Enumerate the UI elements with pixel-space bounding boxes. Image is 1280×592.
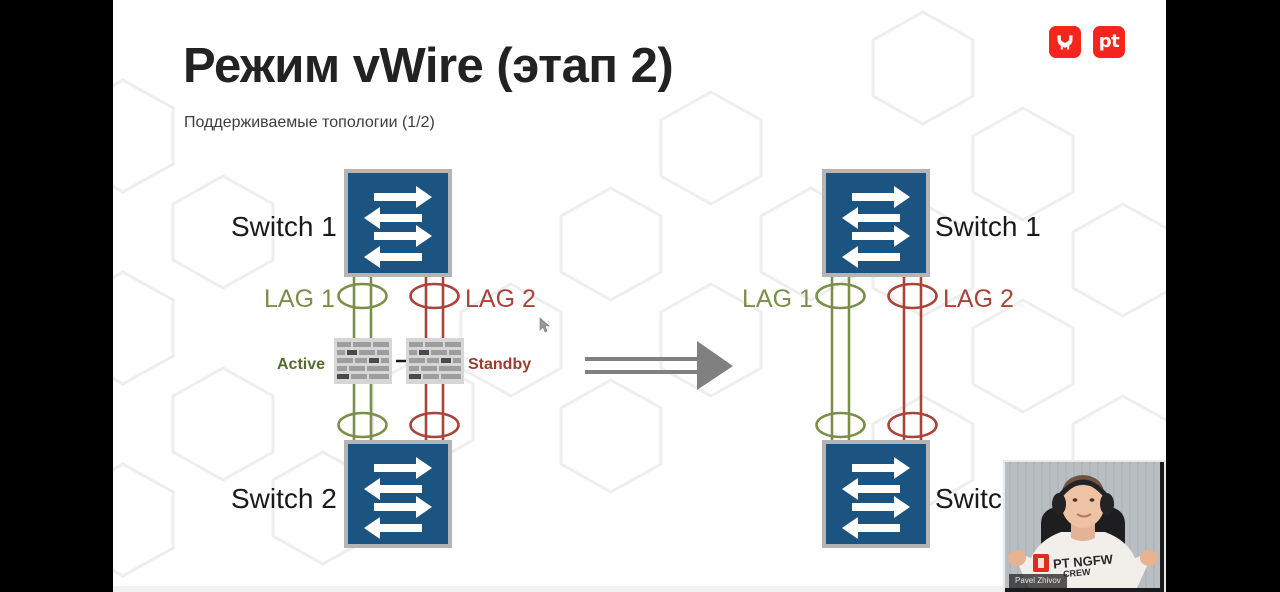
switch1-label-right: Switch 1 — [935, 211, 1041, 242]
transition-arrow-right — [585, 341, 733, 390]
firewall-standby-icon — [406, 338, 464, 384]
lag1-links-right — [817, 271, 865, 443]
firewall-active-icon — [334, 338, 392, 384]
right-topology-group: Switch 1 Switch LAG 1 LAG 2 — [742, 171, 1041, 546]
switch2-icon-right — [824, 442, 928, 546]
switch1-icon-left — [346, 171, 450, 275]
participant-name-label: Pavel Zhivov — [1009, 574, 1067, 588]
lag2-label-right: LAG 2 — [943, 285, 1014, 313]
switch2-icon-left — [346, 442, 450, 546]
lag1-label-right: LAG 1 — [742, 285, 813, 313]
video-frame: Режим vWire (этап 2) Поддерживаемые топо… — [0, 0, 1280, 592]
switch1-label-left: Switch 1 — [231, 211, 337, 242]
lag1-label-left: LAG 1 — [264, 285, 335, 313]
mouse-cursor — [540, 318, 549, 332]
lag2-links-right — [889, 271, 937, 443]
firewall-active-label: Active — [277, 356, 325, 373]
switch2-label-left: Switch 2 — [231, 483, 337, 514]
left-topology-group: Switch 1 Switch 2 LAG 1 LAG 2 Active Sta… — [231, 171, 536, 546]
firewall-standby-label: Standby — [468, 356, 531, 373]
switch1-icon-right — [824, 171, 928, 275]
lag2-label-left: LAG 2 — [465, 285, 536, 313]
webcam-video-tile[interactable]: PT NGFW CREW Pavel Zhivov — [1003, 460, 1166, 592]
